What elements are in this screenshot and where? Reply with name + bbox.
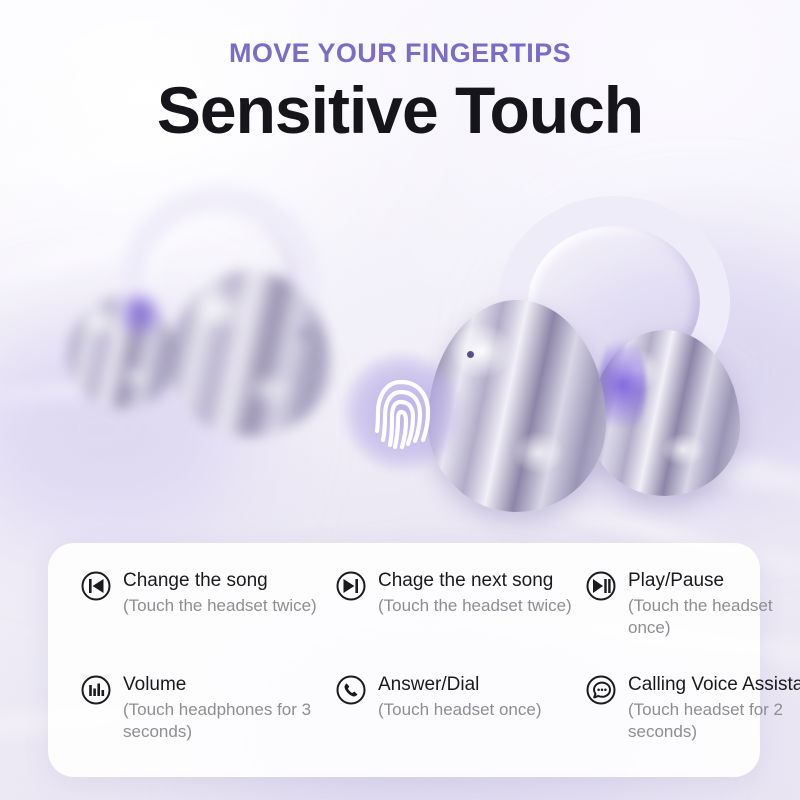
feature-item-volume[interactable]: Volume (Touch headphones for 3 seconds) — [80, 673, 335, 777]
feature-item-play-pause[interactable]: Play/Pause (Touch the headset once) — [585, 569, 800, 673]
microphone-port — [467, 351, 474, 358]
feature-subtitle: (Touch the headset once) — [628, 595, 800, 639]
feature-item-calling-voice-assistant[interactable]: Calling Voice Assistant (Touch headset f… — [585, 673, 800, 777]
voice-assistant-icon — [585, 674, 617, 706]
feature-item-change-the-song[interactable]: Change the song (Touch the headset twice… — [80, 569, 335, 673]
volume-icon — [80, 674, 112, 706]
microphone-port — [300, 330, 307, 337]
previous-track-icon — [80, 570, 112, 602]
touch-controls-panel: Change the song (Touch the headset twice… — [48, 543, 760, 777]
feature-title: Calling Voice Assistant — [628, 674, 800, 695]
feature-subtitle: (Touch the headset twice) — [378, 595, 572, 617]
feature-title: Answer/Dial — [378, 674, 479, 695]
feature-subtitle: (Touch headset for 2 seconds) — [628, 699, 800, 743]
phone-icon — [335, 674, 367, 706]
next-track-icon — [335, 570, 367, 602]
feature-title: Chage the next song — [378, 570, 553, 591]
feature-title: Change the song — [123, 570, 268, 591]
feature-title: Volume — [123, 674, 186, 695]
fingerprint-icon — [366, 368, 436, 454]
violet-accent — [600, 330, 646, 440]
violet-accent — [120, 288, 160, 340]
feature-item-chage-the-next-song[interactable]: Chage the next song (Touch the headset t… — [335, 569, 585, 673]
feature-subtitle: (Touch headphones for 3 seconds) — [123, 699, 323, 743]
page-title: Sensitive Touch — [0, 72, 800, 148]
product-feature-graphic: MOVE YOUR FINGERTIPS Sensitive Touch — [0, 0, 800, 800]
eyebrow-text: MOVE YOUR FINGERTIPS — [0, 38, 800, 69]
feature-grid: Change the song (Touch the headset twice… — [48, 543, 760, 777]
feature-title: Play/Pause — [628, 570, 724, 591]
play-pause-icon — [585, 570, 617, 602]
feature-subtitle: (Touch the headset twice) — [123, 595, 317, 617]
feature-subtitle: (Touch headset once) — [378, 699, 542, 721]
feature-item-answer-dial[interactable]: Answer/Dial (Touch headset once) — [335, 673, 585, 777]
